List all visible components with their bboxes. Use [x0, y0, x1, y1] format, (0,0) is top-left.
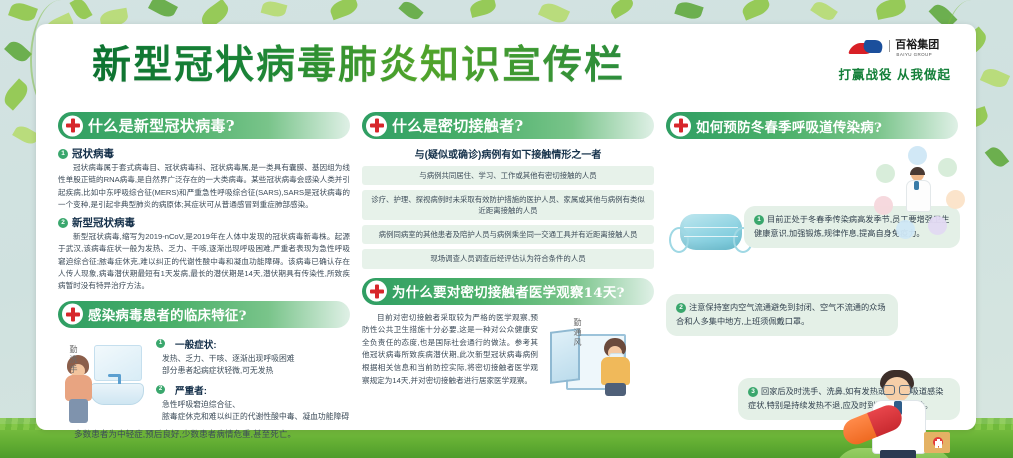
baiyu-swoosh-logo-icon — [850, 40, 884, 57]
column-what-is-coronavirus: 什么是新型冠状病毒? 1 冠状病毒 冠状病毒属于套式病毒目、冠状病毒科、冠状病毒… — [58, 112, 350, 442]
sub-title: 新型冠状病毒 — [72, 215, 135, 230]
sub-title: 冠状病毒 — [72, 146, 114, 161]
contact-row: 诊疗、护理、探视病例时未采取有效防护措施的医护人员、家属或其他与病例有类似近距离… — [362, 190, 654, 220]
item-coronavirus: 1 冠状病毒 冠状病毒属于套式病毒目、冠状病毒科、冠状病毒属,是一类具有囊膜、基… — [58, 146, 350, 211]
brand-name-cn: 百裕集团 — [889, 40, 939, 52]
brand-block: 百裕集团 BAIYU GROUP 打赢战役 从我做起 — [839, 40, 951, 83]
tip-number: 3 — [748, 387, 758, 397]
bullet-number: 1 — [58, 149, 68, 159]
section-header-close-contact: 什么是密切接触者? — [362, 112, 654, 139]
bullet-number: 1 — [156, 339, 165, 348]
feature-title: 严重者: — [175, 383, 207, 397]
feature-lines: 发热、乏力、干咳、逐渐出现呼吸困难 部分患者起病症状轻微,可无发热 — [156, 353, 350, 377]
paragraph-14-day-observation: 目前对密切接触者采取较为严格的医学观察,预防性公共卫生措施十分必要,这是一种对公… — [362, 312, 538, 388]
item-novel-coronavirus: 2 新型冠状病毒 新型冠状病毒,缩写为2019-nCoV,是2019年在人体中发… — [58, 215, 350, 292]
page-title: 新型冠状病毒肺炎知识宣传栏 — [92, 34, 625, 90]
section-header-label: 为什么要对密切接触者医学观察14天? — [392, 281, 625, 301]
tip-number: 1 — [754, 215, 764, 225]
red-cross-icon — [670, 115, 691, 136]
red-cross-icon — [62, 115, 83, 136]
section-header-prevention: 如何预防冬春季呼吸道传染病? — [666, 112, 958, 139]
brand-name-en: BAIYU GROUP — [889, 52, 939, 57]
section-header-what-is-ncov: 什么是新型冠状病毒? — [58, 112, 350, 139]
close-contact-lead: 与(疑似或确诊)病例有如下接触情形之一者 — [362, 146, 654, 161]
brand-slogan: 打赢战役 从我做起 — [839, 64, 951, 83]
section-header-clinical-features: 感染病毒患者的临床特征? — [58, 301, 350, 328]
ventilation-illustration: 勤通风 — [542, 312, 654, 388]
red-cross-icon — [366, 115, 387, 136]
tip-text: 注意保持室内空气流通避免到封闭、空气不流通的众场合和人多集中地方,上班须佩戴口罩… — [676, 303, 886, 326]
prevention-tip-2: 2注意保持室内空气流通避免到封闭、空气不流通的众场合和人多集中地方,上班须佩戴口… — [666, 294, 898, 336]
illustration-label-wash-hands: 勤洗手 — [68, 345, 79, 375]
contact-row: 病例同病室的其他患者及陪护人员与病例乘坐同一交通工具并有近距离接触人员 — [362, 225, 654, 244]
section-header-label: 什么是新型冠状病毒? — [88, 115, 235, 136]
red-cross-icon — [366, 281, 387, 302]
handwashing-illustration: 勤洗手 — [58, 335, 150, 423]
illustration-label-ventilate: 勤通风 — [572, 318, 583, 348]
doctor-illustration — [850, 370, 954, 458]
paragraph-novel-coronavirus: 新型冠状病毒,缩写为2019-nCoV,是2019年在人体中发现的冠状病毒新毒株… — [58, 231, 350, 292]
contact-row: 现场调查人员调查后经评估认为符合条件的人员 — [362, 249, 654, 268]
section-header-label: 感染病毒患者的临床特征? — [88, 304, 247, 324]
face-mask-icon — [680, 208, 750, 256]
medical-kit-icon — [924, 432, 950, 453]
bullet-number: 2 — [156, 385, 165, 394]
red-cross-icon — [62, 304, 83, 325]
section-header-label: 如何预防冬春季呼吸道传染病? — [696, 116, 882, 136]
column-prevention: 如何预防冬春季呼吸道传染病? 1目前正处于冬春季传染病高发季节,员工要增强卫生健… — [666, 112, 958, 458]
bullet-number: 2 — [58, 218, 68, 228]
feature-title: 一般症状: — [175, 337, 217, 351]
tip-number: 2 — [676, 303, 686, 313]
column-close-contacts: 什么是密切接触者? 与(疑似或确诊)病例有如下接触情形之一者 与病例共同居住、学… — [362, 112, 654, 387]
poster-root: 新型冠状病毒肺炎知识宣传栏 百裕集团 BAIYU GROUP 打赢战役 从我做起… — [0, 0, 1013, 458]
medical-icons-wheel — [872, 146, 964, 238]
contact-row: 与病例共同居住、学习、工作或其他有密切接触的人员 — [362, 166, 654, 185]
section-header-14-days: 为什么要对密切接触者医学观察14天? — [362, 278, 654, 305]
feature-lines: 急性呼吸窘迫综合征、 脓毒症休克和难以纠正的代谢性酸中毒、凝血功能障碍 — [156, 399, 350, 423]
section-header-label: 什么是密切接触者? — [392, 115, 524, 136]
clinical-closing-note: 多数患者为中轻症,预后良好,少数患者病情危重,甚至死亡。 — [58, 428, 350, 442]
paragraph-coronavirus: 冠状病毒属于套式病毒目、冠状病毒科、冠状病毒属,是一类具有囊膜、基因组为线性单股… — [58, 162, 350, 211]
